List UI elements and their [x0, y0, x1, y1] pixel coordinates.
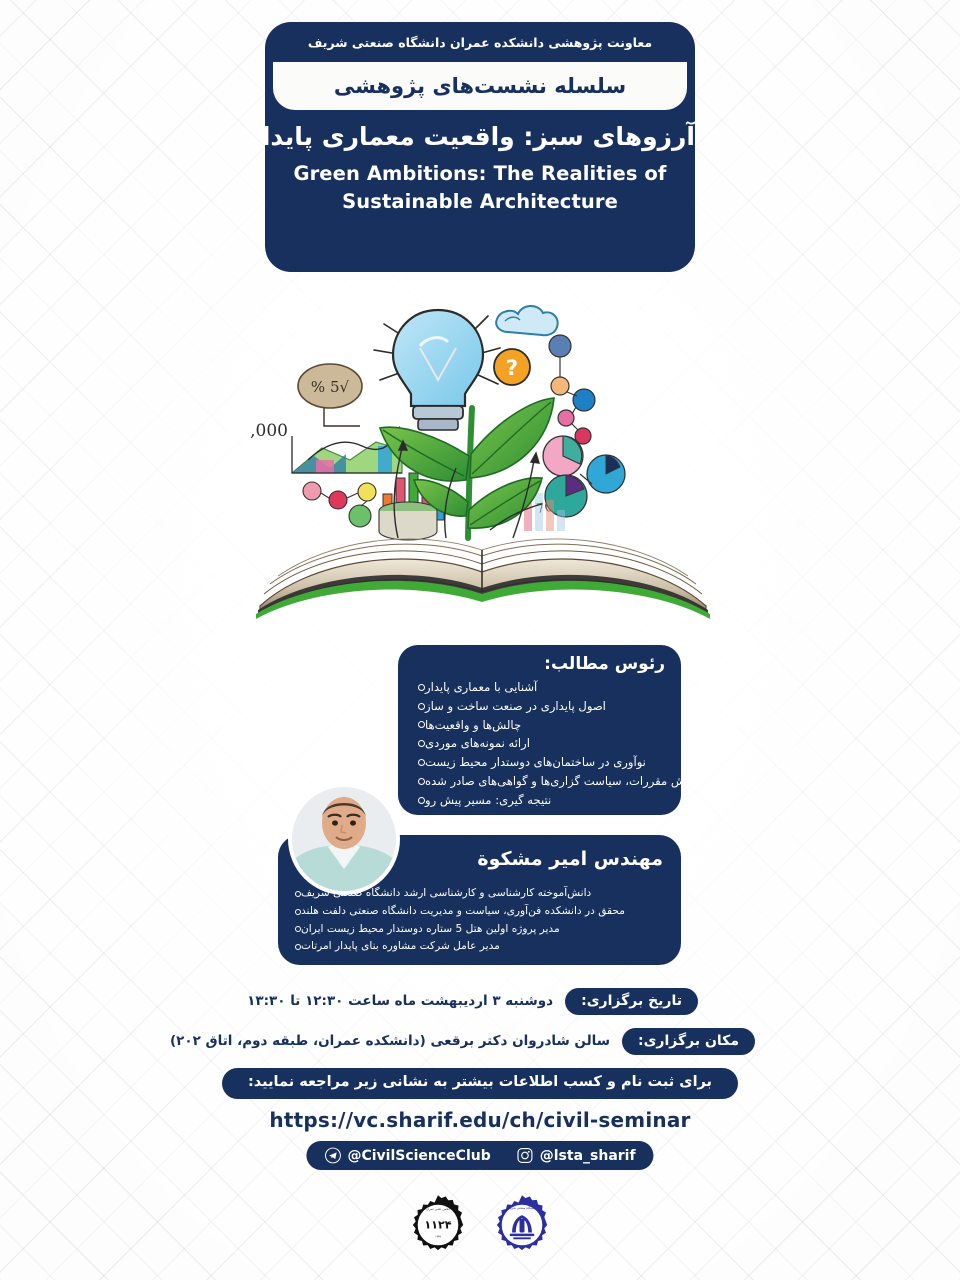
instagram-handle: @lsta_sharif [540, 1148, 636, 1164]
bullet-circle-icon [418, 684, 425, 691]
series-band: سلسله نشست‌های پژوهشی [273, 62, 687, 110]
node-network-right-icon [549, 335, 595, 444]
speaker-name: مهندس امیر مشکوة [477, 848, 663, 870]
logo-row: دانشگاه صنعتی شریف ۱۱۲۴ انجمن علمی عمران… [407, 1194, 553, 1256]
speaker-avatar-image [292, 787, 396, 891]
poster-title-en-line1: Green Ambitions: The Realities of [265, 160, 695, 188]
speaker-avatar [288, 783, 400, 895]
speaker-bio-label: محقق در دانشکده فن‌آوری، سیاست و مدیریت … [301, 903, 625, 921]
social-link-telegram[interactable]: @CivilScienceClub [324, 1147, 490, 1164]
telegram-icon [324, 1147, 341, 1164]
topics-list: آشنایی با معماری پایدار اصول پایداری در … [412, 678, 665, 809]
cylinder-sketch [379, 502, 437, 540]
speaker-bio-list: دانش‌آموخته کارشناسی و کارشناسی ارشد دان… [290, 885, 665, 956]
svg-text:دانشگاه صنعتی شریف: دانشگاه صنعتی شریف [507, 1206, 537, 1210]
topic-label: نوآوری در ساختمان‌های دوستدار محیط زیست [425, 753, 646, 772]
poster-title-en-line2: Sustainable Architecture [265, 188, 695, 216]
topic-label: نقش مقررات، سیاست گزاری‌ها و گواهی‌های ص… [425, 772, 695, 791]
topic-label: ارائه نمونه‌های موردی [425, 734, 530, 753]
date-label: تاریخ برگزاری: [565, 988, 698, 1015]
speaker-bio-label: مدیر عامل شرکت مشاوره بنای پایدار امرتات [301, 938, 500, 956]
bullet-circle-icon [418, 759, 425, 766]
formula-bubble-icon: √5 % [298, 364, 362, 426]
topic-item: نقش مقررات، سیاست گزاری‌ها و گواهی‌های ص… [412, 772, 665, 791]
telegram-handle: @CivilScienceClub [347, 1148, 490, 1164]
social-link-instagram[interactable]: @lsta_sharif [517, 1147, 636, 1164]
series-title: سلسله نشست‌های پژوهشی [334, 74, 626, 98]
civil-engineering-department-logo: ۱۱۲۴ انجمن علمی عمران ۱۳۹۹ [407, 1194, 469, 1256]
speaker-bio-item: مدیر عامل شرکت مشاوره بنای پایدار امرتات [290, 938, 500, 956]
topic-item: نتیجه گیری: مسیر پیش رو [412, 791, 665, 810]
header-block: معاونت پژوهشی دانشکده عمران دانشگاه صنعت… [265, 22, 695, 272]
open-book-illustration: √5 % 10,000 70,000 [250, 288, 720, 620]
sharif-university-logo: دانشگاه صنعتی شریف [491, 1194, 553, 1256]
bullet-circle-icon [418, 721, 425, 728]
bullet-circle-icon [418, 778, 425, 785]
pie-charts-sketch [543, 436, 625, 517]
node-cluster-left-icon [303, 482, 376, 527]
date-value: دوشنبه ۳ اردیبهشت ماه ساعت ۱۲:۳۰ تا ۱۳:۳… [247, 993, 565, 1009]
number-left-label: 10,000 [250, 421, 288, 441]
poster-title-en: Green Ambitions: The Realities of Sustai… [265, 160, 695, 215]
topics-heading: رئوس مطالب: [412, 654, 665, 674]
topics-panel: رئوس مطالب: آشنایی با معماری پایدار اصول… [398, 645, 681, 815]
svg-text:۱۳۹۹: ۱۳۹۹ [435, 1235, 441, 1238]
instagram-icon [517, 1147, 534, 1164]
topic-label: اصول پایداری در صنعت ساخت و ساز [425, 697, 606, 716]
poster-title-fa: آرزوهای سبز: واقعیت معماری پایدار [265, 122, 695, 151]
bullet-circle-icon [295, 909, 301, 915]
svg-text:۱۱۲۴: ۱۱۲۴ [424, 1219, 451, 1232]
svg-text:?: ? [506, 356, 518, 380]
cloud-icon [496, 306, 557, 335]
topic-label: آشنایی با معماری پایدار [425, 678, 537, 697]
open-book-icon [256, 539, 710, 619]
venue-row: مکان برگزاری: سالن شادروان دکتر برقعی (د… [170, 1026, 755, 1056]
venue-label: مکان برگزاری: [622, 1028, 755, 1055]
bullet-circle-icon [418, 703, 425, 710]
svg-text:انجمن علمی عمران: انجمن علمی عمران [426, 1207, 450, 1211]
topic-item: ارائه نمونه‌های موردی [412, 734, 665, 753]
organization-line: معاونت پژوهشی دانشکده عمران دانشگاه صنعت… [265, 22, 695, 62]
social-bar: @CivilScienceClub @lsta_sharif [306, 1141, 653, 1170]
speaker-bio-label: مدیر پروژه اولین هتل 5 ستاره دوستدار محی… [301, 921, 560, 939]
bullet-circle-icon [295, 891, 301, 897]
speaker-bio-item: مدیر پروژه اولین هتل 5 ستاره دوستدار محی… [290, 921, 560, 939]
registration-note: برای ثبت نام و کسب اطلاعات بیشتر به نشان… [222, 1068, 738, 1099]
date-row: تاریخ برگزاری: دوشنبه ۳ اردیبهشت ماه ساع… [247, 986, 698, 1016]
bullet-circle-icon [418, 797, 425, 804]
topic-item: نوآوری در ساختمان‌های دوستدار محیط زیست [412, 753, 665, 772]
bullet-circle-icon [418, 740, 425, 747]
speaker-bio-item: محقق در دانشکده فن‌آوری، سیاست و مدیریت … [290, 903, 625, 921]
lightbulb-icon [374, 310, 500, 430]
topic-item: اصول پایداری در صنعت ساخت و ساز [412, 697, 665, 716]
seminar-url[interactable]: https://vc.sharif.edu/ch/civil-seminar [0, 1108, 960, 1132]
topic-label: نتیجه گیری: مسیر پیش رو [425, 791, 551, 810]
venue-value: سالن شادروان دکتر برقعی (دانشکده عمران، … [170, 1033, 622, 1049]
question-badge-icon: ? [494, 349, 530, 385]
topic-item: چالش‌ها و واقعیت‌ها [412, 716, 665, 735]
seminar-poster: معاونت پژوهشی دانشکده عمران دانشگاه صنعت… [0, 0, 960, 1280]
topic-label: چالش‌ها و واقعیت‌ها [425, 716, 521, 735]
topic-item: آشنایی با معماری پایدار [412, 678, 665, 697]
svg-text:√5 %: √5 % [311, 378, 350, 396]
